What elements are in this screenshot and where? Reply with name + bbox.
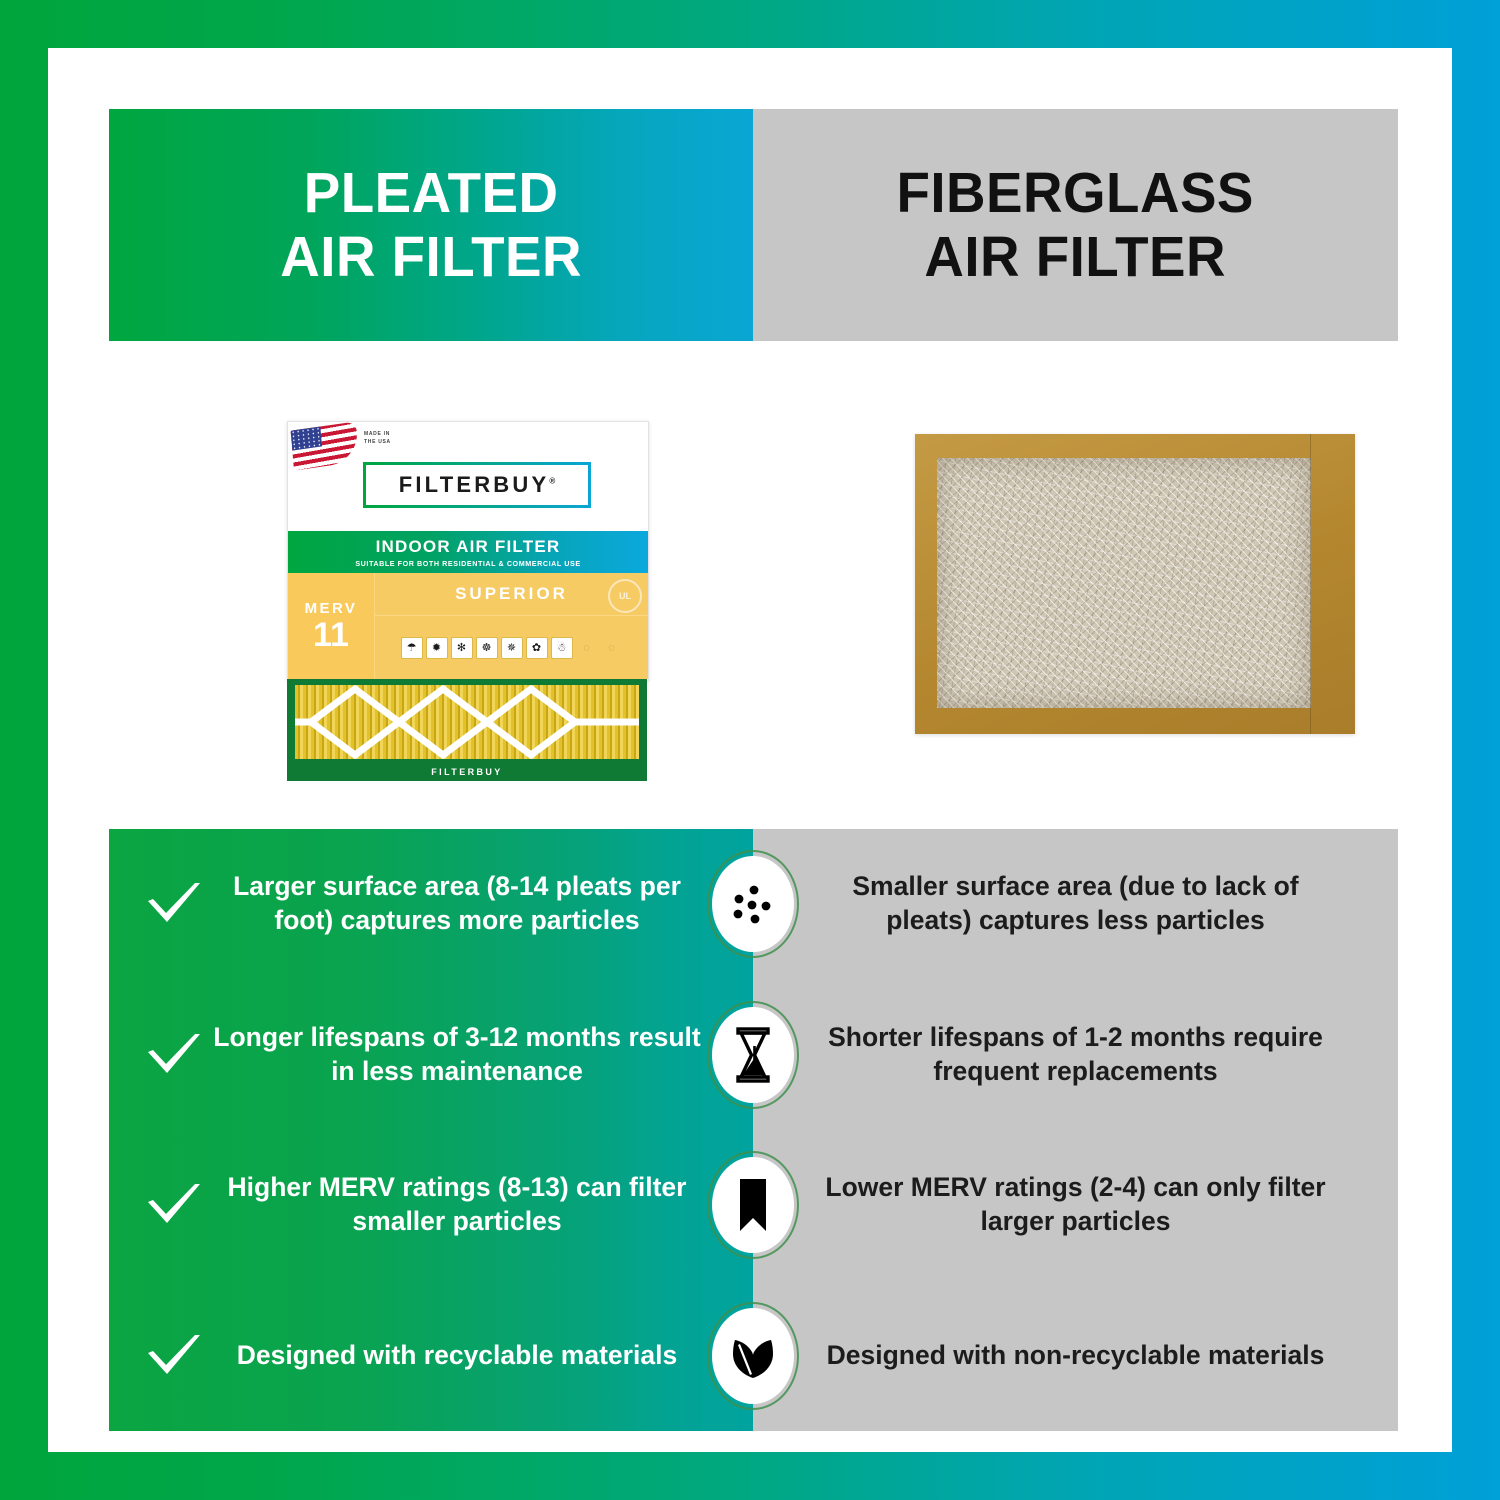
row-right-cell: Smaller surface area (due to lack of ple… (753, 870, 1398, 938)
product-image-strip: MADE IN THE USA FILTERBUY® INDOOR AIR FI… (109, 341, 1398, 829)
feature-icon-row: ☂ ✹ ✻ ☸ ✵ ✿ ☃ ◌ ◌ (375, 616, 648, 679)
row-left-cell: Longer lifespans of 3-12 months result i… (109, 1021, 753, 1089)
comparison-row: Larger surface area (8-14 pleats per foo… (109, 829, 1398, 980)
smoke-icon: ☃ (551, 637, 573, 659)
tier-label: SUPERIOR (455, 584, 568, 604)
comparison-rows: Larger surface area (8-14 pleats per foo… (109, 829, 1398, 1431)
ribbon-icon (733, 1177, 773, 1233)
filter-box-artwork: MADE IN THE USA FILTERBUY® INDOOR AIR FI… (287, 421, 649, 681)
ul-certification-icon: UL (608, 579, 642, 613)
pet-dander-icon: ✿ (526, 637, 548, 659)
row-center-medal (707, 1302, 799, 1410)
header-fiberglass-line2: AIR FILTER (897, 225, 1254, 289)
comparison-row: Longer lifespans of 3-12 months result i… (109, 980, 1398, 1131)
pollen-icon: ✹ (426, 637, 448, 659)
virus-icon: ✵ (501, 637, 523, 659)
medal-disc (712, 1007, 794, 1103)
merv-right-column: SUPERIOR UL ☂ ✹ ✻ ☸ ✵ ✿ ☃ (375, 573, 648, 679)
header-pleated: PLEATED AIR FILTER (109, 109, 753, 341)
pleat-media-area: FILTERBUY (287, 679, 647, 781)
row-center-medal (707, 1151, 799, 1259)
pleated-filter-product-image: MADE IN THE USA FILTERBUY® INDOOR AIR FI… (287, 421, 647, 781)
row-left-cell: Higher MERV ratings (8-13) can filter sm… (109, 1171, 753, 1239)
check-icon (135, 880, 213, 928)
hourglass-icon (730, 1026, 776, 1084)
comparison-row: Designed with recyclable materials Desig… (109, 1281, 1398, 1432)
check-icon (135, 1332, 213, 1380)
row-center-medal (707, 1001, 799, 1109)
fiberglass-filter-product-image (915, 434, 1355, 734)
band-sub-text: SUITABLE FOR BOTH RESIDENTIAL & COMMERCI… (355, 559, 580, 568)
page-title-fiberglass: FIBERGLASS AIR FILTER (897, 161, 1254, 290)
row-left-cell: Larger surface area (8-14 pleats per foo… (109, 870, 753, 938)
header-pleated-line2: AIR FILTER (280, 225, 582, 289)
tier-row: SUPERIOR UL (375, 573, 648, 616)
brand-name: FILTERBUY (399, 472, 550, 497)
indoor-air-filter-band: INDOOR AIR FILTER SUITABLE FOR BOTH RESI… (288, 531, 648, 573)
odor-icon: ◌ (576, 637, 598, 659)
brand-logo-text: FILTERBUY® (399, 472, 556, 498)
band-main-text: INDOOR AIR FILTER (376, 537, 561, 557)
usa-flag-icon (291, 421, 360, 470)
row-right-text: Smaller surface area (due to lack of ple… (816, 870, 1336, 938)
pleat-brand-text: FILTERBUY (287, 767, 647, 777)
dust-icon: ☂ (401, 637, 423, 659)
outer-gradient-frame: PLEATED AIR FILTER FIBERGLASS AIR FILTER (0, 0, 1500, 1500)
row-right-cell: Lower MERV ratings (2-4) can only filter… (753, 1171, 1398, 1239)
diamond-lattice-support (295, 685, 639, 759)
brand-registered-mark: ® (549, 477, 555, 486)
row-left-text: Longer lifespans of 3-12 months result i… (213, 1021, 753, 1089)
comparison-panel: Larger surface area (8-14 pleats per foo… (109, 829, 1398, 1431)
page-title-pleated: PLEATED AIR FILTER (280, 161, 582, 290)
page-canvas: PLEATED AIR FILTER FIBERGLASS AIR FILTER (48, 48, 1452, 1452)
box-top-section: MADE IN THE USA FILTERBUY® (288, 422, 648, 531)
header-fiberglass: FIBERGLASS AIR FILTER (753, 109, 1398, 341)
medal-disc (712, 1157, 794, 1253)
leaf-icon (725, 1328, 781, 1384)
bacteria-icon: ☸ (476, 637, 498, 659)
merv-value: 11 (313, 619, 349, 651)
made-in-line1: MADE IN (364, 431, 391, 439)
row-left-cell: Designed with recyclable materials (109, 1332, 753, 1380)
row-right-cell: Shorter lifespans of 1-2 months require … (753, 1021, 1398, 1089)
row-right-cell: Designed with non-recyclable materials (753, 1339, 1398, 1373)
made-in-usa-label: MADE IN THE USA (364, 431, 391, 446)
row-left-text: Larger surface area (8-14 pleats per foo… (213, 870, 753, 938)
row-left-text: Higher MERV ratings (8-13) can filter sm… (213, 1171, 753, 1239)
medal-disc (712, 1308, 794, 1404)
brand-logo-frame: FILTERBUY® (363, 462, 591, 508)
row-center-medal (707, 850, 799, 958)
merv-badge: MERV 11 (288, 573, 375, 679)
made-in-line2: THE USA (364, 439, 391, 447)
row-right-text: Designed with non-recyclable materials (827, 1339, 1325, 1373)
particles-icon (725, 876, 781, 932)
merv-section: MERV 11 SUPERIOR UL ☂ ✹ ✻ (288, 573, 648, 679)
fiberglass-mesh-texture (937, 458, 1311, 708)
allergen-icon: ◌ (601, 637, 623, 659)
cardboard-frame-seam (1310, 434, 1311, 734)
medal-disc (712, 856, 794, 952)
header-band: PLEATED AIR FILTER FIBERGLASS AIR FILTER (109, 109, 1398, 341)
check-icon (135, 1031, 213, 1079)
row-right-text: Lower MERV ratings (2-4) can only filter… (816, 1171, 1336, 1239)
comparison-row: Higher MERV ratings (8-13) can filter sm… (109, 1130, 1398, 1281)
header-pleated-line1: PLEATED (280, 161, 582, 225)
row-left-text: Designed with recyclable materials (213, 1339, 753, 1373)
check-icon (135, 1181, 213, 1229)
header-fiberglass-line1: FIBERGLASS (897, 161, 1254, 225)
merv-label: MERV (305, 600, 358, 617)
row-right-text: Shorter lifespans of 1-2 months require … (816, 1021, 1336, 1089)
mold-icon: ✻ (451, 637, 473, 659)
